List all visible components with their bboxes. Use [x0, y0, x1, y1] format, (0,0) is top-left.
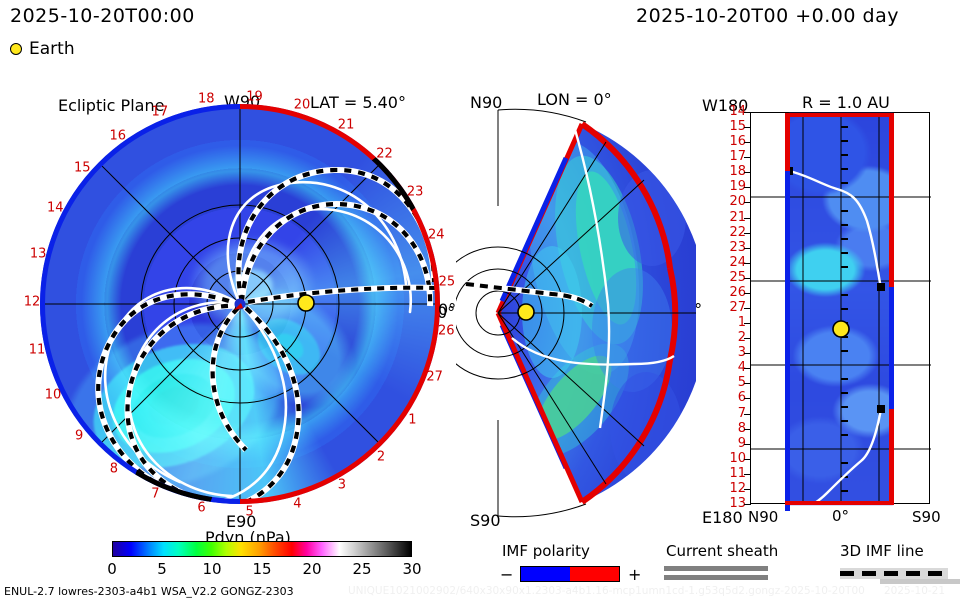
ecliptic-carrington-label: 24: [428, 228, 445, 243]
ecliptic-carrington-label: 15: [74, 161, 91, 176]
ecliptic-carrington-label: 21: [338, 118, 355, 133]
onedeg-y-axis-tick: [744, 398, 751, 399]
ecliptic-carrington-label: 23: [407, 184, 424, 199]
imf-polarity-negative-swatch: [521, 567, 570, 581]
onedeg-y-axis-tick: [744, 263, 751, 264]
onedeg-overlay: [751, 113, 931, 505]
onedeg-y-axis-label: 21: [710, 211, 746, 224]
footer-divider: [880, 579, 960, 584]
onedeg-y-axis-tick: [744, 278, 751, 279]
ecliptic-carrington-label: 3: [338, 478, 346, 493]
imf-3d-legend-title: 3D IMF line: [840, 542, 924, 560]
onedeg-y-axis-tick: [744, 429, 751, 430]
onedeg-left-polarity-positive-top: [785, 113, 790, 171]
onedeg-y-axis-label: 4: [710, 361, 746, 374]
pdyn-colorbar[interactable]: 051015202530: [112, 541, 412, 561]
onedeg-y-axis-label: 25: [710, 271, 746, 284]
colorbar-tick-label: 25: [352, 560, 371, 578]
ecliptic-carrington-label: 9: [75, 428, 83, 443]
onedeg-y-axis-tick: [744, 112, 751, 113]
imf-polarity-minus-label: −: [500, 565, 513, 584]
onedeg-y-axis-label: 20: [710, 195, 746, 208]
onedeg-frame: [750, 112, 930, 504]
ecliptic-plane-plot[interactable]: 1920212223242526271234567891011121314151…: [34, 98, 446, 510]
onedeg-y-axis-label: 9: [710, 437, 746, 450]
current-sheath-legend-title: Current sheath: [666, 542, 778, 560]
onedeg-bottom-edge: [785, 501, 894, 505]
onedeg-y-axis-label: 26: [710, 286, 746, 299]
ecliptic-carrington-label: 8: [110, 462, 118, 477]
colorbar-tick-label: 30: [402, 560, 421, 578]
onedeg-y-axis-label: 24: [710, 256, 746, 269]
onedeg-y-axis-label: 10: [710, 452, 746, 465]
onedeg-y-axis-tick: [744, 127, 751, 128]
onedeg-y-axis-tick: [744, 172, 751, 173]
meridional-plane-plot[interactable]: [456, 98, 696, 528]
onedeg-right-polarity-negative: [889, 287, 894, 409]
imf-polarity-positive-swatch: [570, 567, 619, 581]
onedeg-y-axis-tick: [744, 142, 751, 143]
onedeg-y-axis-tick: [744, 474, 751, 475]
onedeg-y-axis-tick: [744, 248, 751, 249]
earth-marker-meridional: [518, 304, 534, 320]
onedeg-y-axis-label: 8: [710, 422, 746, 435]
onedeg-y-axis-tick: [744, 308, 751, 309]
generated-date-footer: 2025-10-21: [884, 585, 945, 597]
onedeg-y-axis-label: 6: [710, 391, 746, 404]
onedeg-x-label-right: S90: [912, 508, 941, 526]
ecliptic-carrington-label: 26: [438, 323, 455, 338]
onedeg-y-axis-label: 13: [710, 497, 746, 510]
run-id-footer: UNIQUE1021002902/640x30x90x1.2303-a4b1.1…: [348, 585, 865, 597]
onedeg-y-axis-tick: [744, 459, 751, 460]
earth-marker-icon: [10, 43, 22, 55]
ecliptic-carrington-label: 2: [377, 449, 385, 464]
meridional-overlay: [456, 98, 696, 528]
onedeg-y-axis-tick: [744, 218, 751, 219]
ecliptic-carrington-label: 20: [294, 98, 311, 113]
epoch-label: 2025-10-20T00 +0.00 day: [636, 5, 899, 27]
ecliptic-carrington-label: 18: [198, 91, 215, 106]
onedeg-y-axis-tick: [744, 202, 751, 203]
model-info-footer: ENUL-2.7 lowres-2303-a4b1 WSA_V2.2 GONGZ…: [4, 585, 294, 598]
ecliptic-carrington-label: 13: [30, 246, 47, 261]
ecliptic-carrington-label: 6: [197, 501, 205, 516]
ecliptic-carrington-label: 16: [109, 128, 126, 143]
onedeg-y-axis-label: 16: [710, 135, 746, 148]
onedeg-x-label-center: 0°: [832, 507, 849, 525]
colorbar-tick-label: 20: [302, 560, 321, 578]
onedeg-y-axis-tick: [744, 504, 751, 505]
onedeg-polarity-marker-low: [877, 405, 885, 413]
onedeg-y-axis-tick: [744, 383, 751, 384]
onedeg-y-axis-label: 3: [710, 346, 746, 359]
onedeg-y-axis-tick: [744, 293, 751, 294]
ecliptic-carrington-label: 12: [24, 294, 41, 309]
onedeg-y-axis-tick: [744, 414, 751, 415]
earth-legend: Earth: [10, 38, 75, 60]
ecliptic-carrington-label: 27: [426, 370, 443, 385]
one-au-map-plot[interactable]: 1415161718192021222324252627123456789101…: [700, 98, 950, 518]
onedeg-y-axis-label: 15: [710, 120, 746, 133]
onedeg-y-axis-tick: [744, 338, 751, 339]
ecliptic-carrington-label: 22: [376, 147, 393, 162]
onedeg-y-axis-tick: [744, 323, 751, 324]
onedeg-y-axis-label: 7: [710, 407, 746, 420]
colorbar-gradient: [112, 541, 412, 557]
imf-polarity-swatch: [520, 566, 620, 582]
onedeg-y-axis-tick: [744, 489, 751, 490]
imf-polarity-legend-title: IMF polarity: [502, 542, 590, 560]
onedeg-y-axis-tick: [744, 187, 751, 188]
ecliptic-carrington-label: 7: [151, 487, 159, 502]
ecliptic-carrington-label: 4: [293, 496, 301, 511]
current-sheath-swatch-2: [664, 575, 768, 580]
onedeg-y-axis-tick: [744, 368, 751, 369]
onedeg-right-polarity-positive-bottom: [889, 409, 894, 505]
onedeg-y-axis-label: 19: [710, 180, 746, 193]
ecliptic-carrington-label: 11: [29, 342, 46, 357]
colorbar-tick-label: 5: [157, 560, 167, 578]
ecliptic-carrington-label: 17: [152, 105, 169, 120]
onedeg-y-axis-label: 14: [710, 105, 746, 118]
imf-polarity-plus-label: +: [628, 565, 641, 584]
onedeg-y-axis-tick: [744, 157, 751, 158]
onedeg-y-axis-tick: [744, 444, 751, 445]
onedeg-minor-ticks: [841, 127, 848, 491]
earth-legend-label: Earth: [29, 39, 75, 59]
onedeg-y-axis-label: 5: [710, 376, 746, 389]
ecliptic-carrington-label: 14: [47, 201, 64, 216]
earth-marker-onedeg: [833, 321, 849, 337]
onedeg-top-edge: [785, 113, 894, 117]
onedeg-y-axis-label: 22: [710, 226, 746, 239]
onedeg-y-axis-label: 27: [710, 301, 746, 314]
ecliptic-carrington-label: 25: [439, 275, 456, 290]
onedeg-y-axis-label: 18: [710, 165, 746, 178]
imf-3d-swatch: [840, 568, 948, 579]
ecliptic-carrington-label: 1: [408, 413, 416, 428]
ecliptic-carrington-label: 5: [246, 504, 254, 519]
meridional-left-label: 0°: [438, 300, 456, 319]
ecliptic-carrington-label: 19: [246, 89, 263, 104]
onedeg-y-axis-label: 11: [710, 467, 746, 480]
onedeg-y-axis-tick: [744, 233, 751, 234]
onedeg-y-axis-label: 17: [710, 150, 746, 163]
onedeg-polarity-marker-mid: [877, 283, 885, 291]
colorbar-tick-label: 10: [202, 560, 221, 578]
ecliptic-carrington-label: 10: [45, 388, 62, 403]
onedeg-y-axis-label: 23: [710, 241, 746, 254]
onedeg-x-label-left: N90: [748, 508, 778, 526]
timestamp-label: 2025-10-20T00:00: [10, 5, 195, 27]
imf-3d-dash: [840, 571, 948, 576]
current-sheath-swatch-1: [664, 566, 768, 571]
onedeg-y-axis-label: 12: [710, 482, 746, 495]
onedeg-right-polarity-positive-top: [889, 113, 894, 287]
colorbar-tick-label: 15: [252, 560, 271, 578]
onedeg-left-polarity-negative: [785, 171, 790, 511]
onedeg-y-axis-tick: [744, 353, 751, 354]
colorbar-tick-label: 0: [107, 560, 117, 578]
onedeg-y-axis-label: 1: [710, 316, 746, 329]
onedeg-y-axis-label: 2: [710, 331, 746, 344]
